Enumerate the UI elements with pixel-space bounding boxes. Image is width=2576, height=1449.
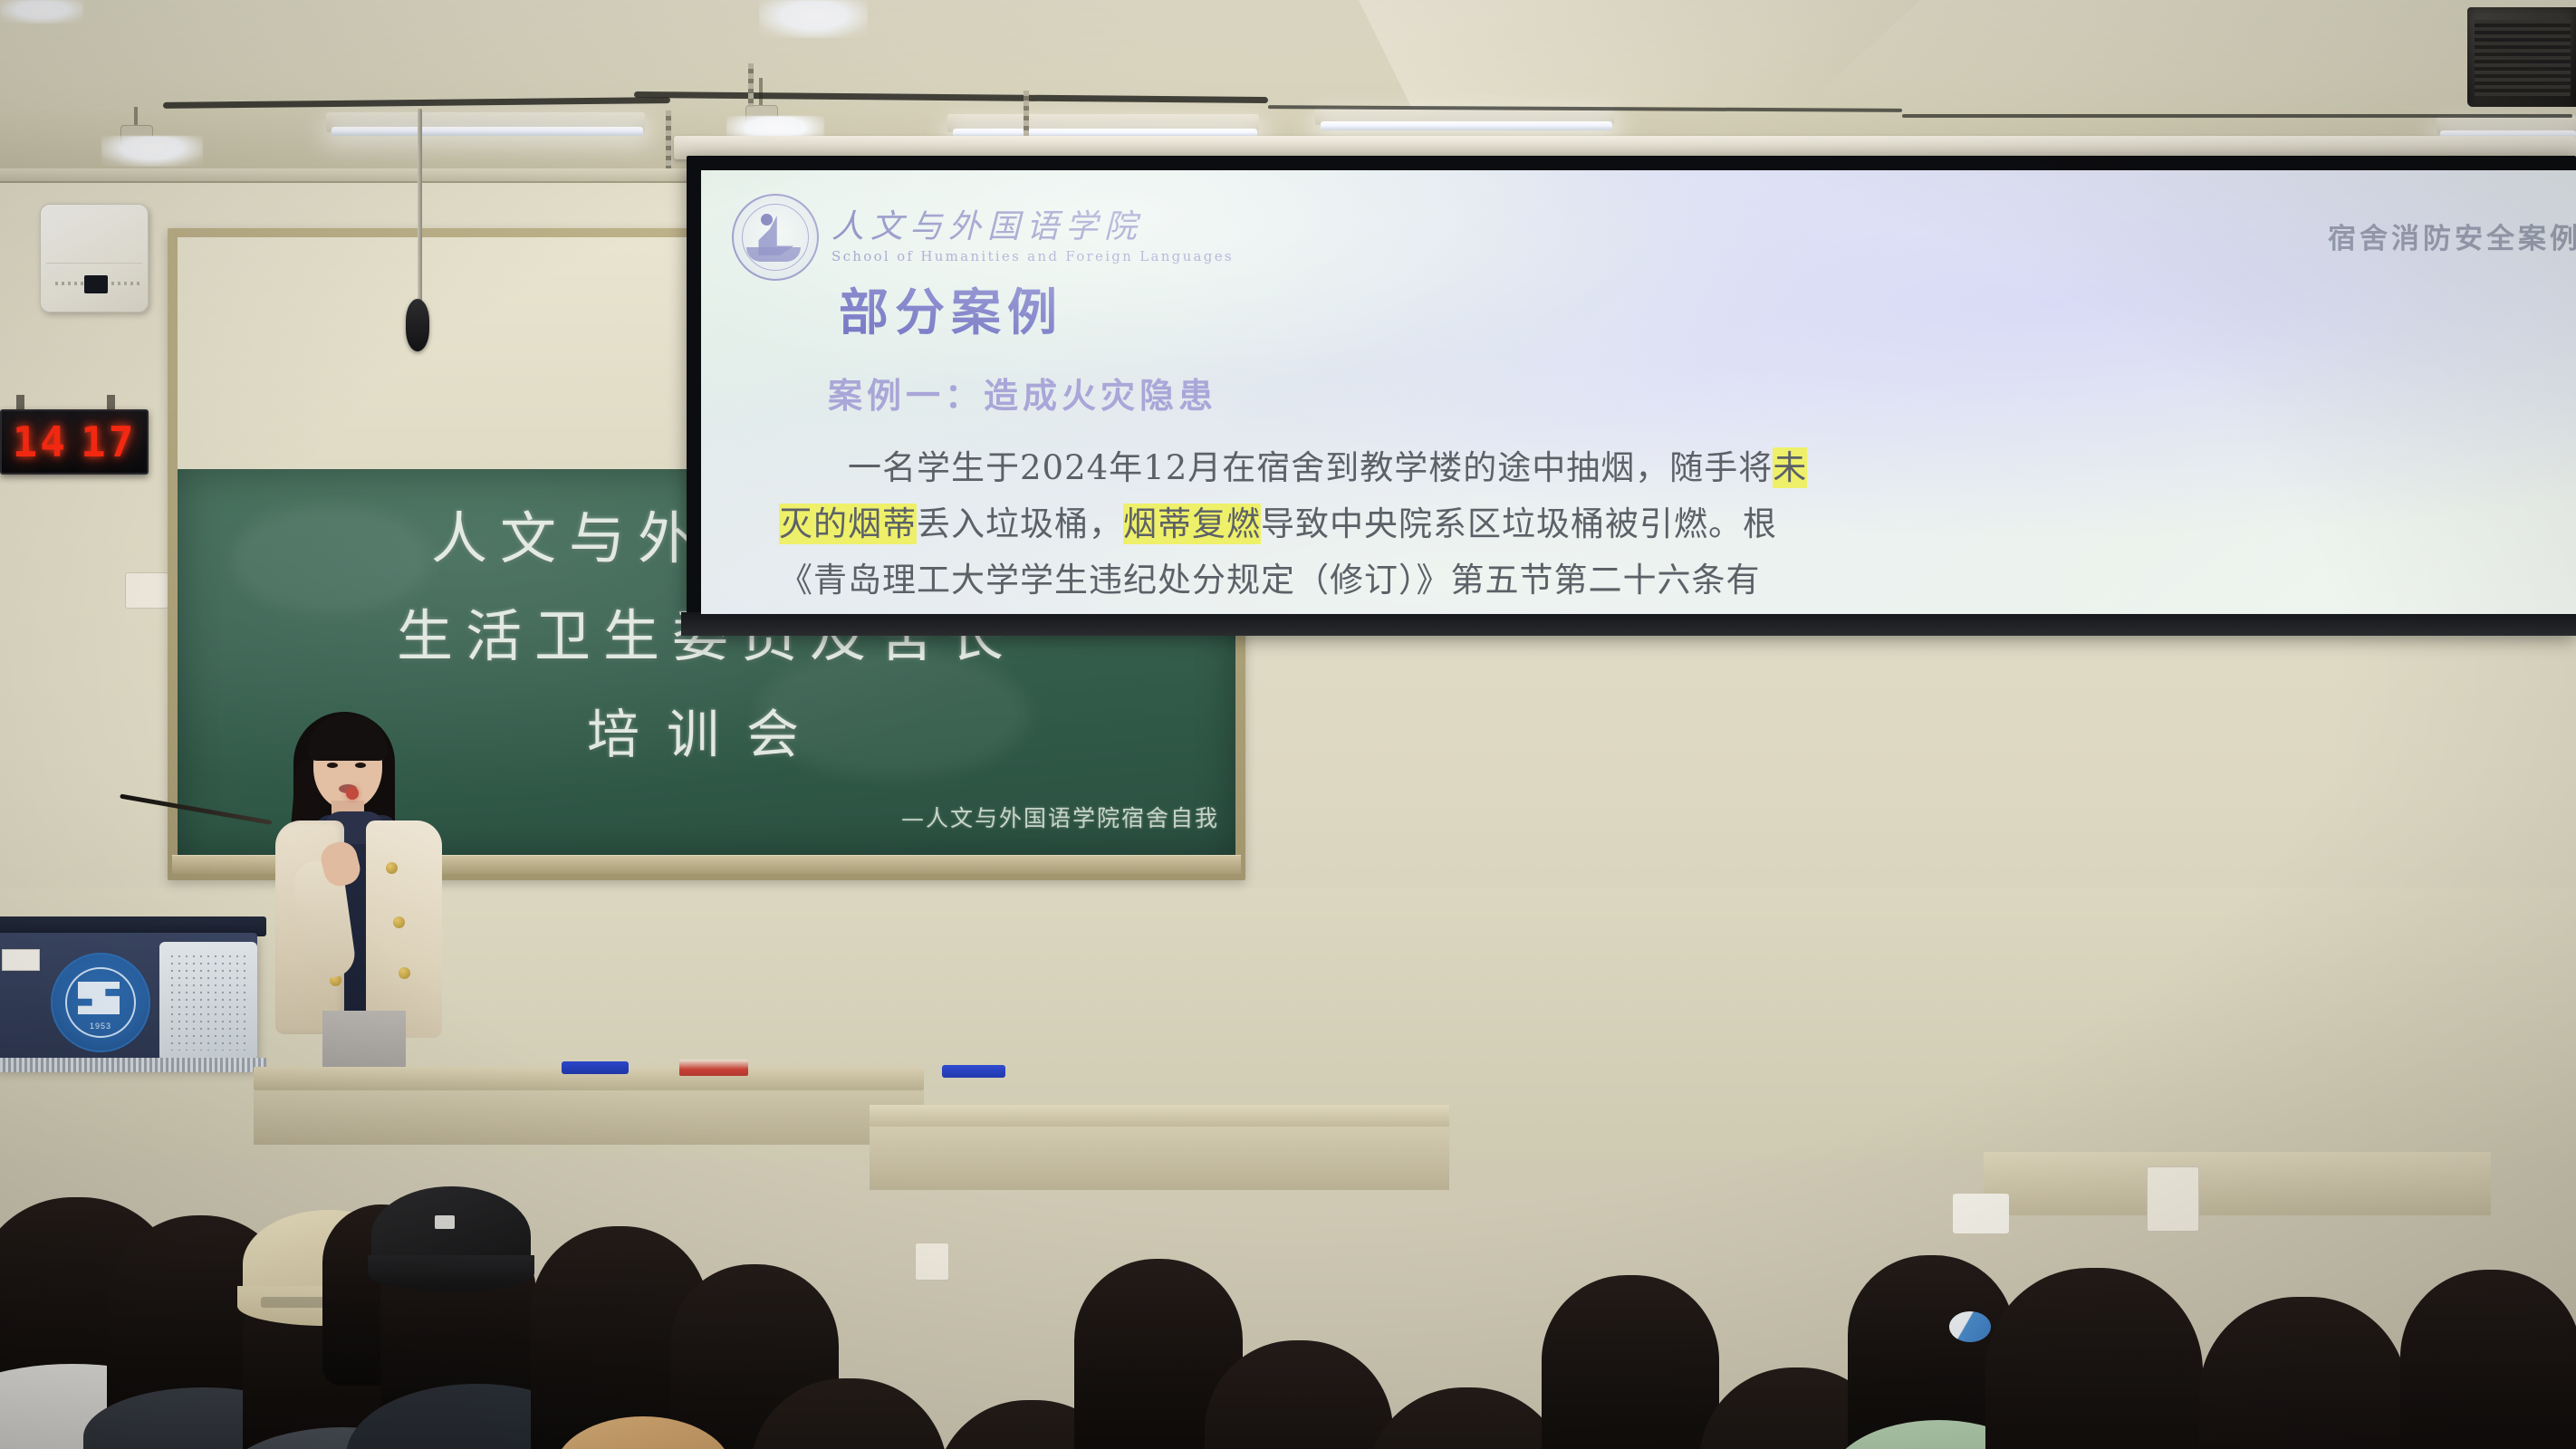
presenter-button-1: [386, 862, 398, 874]
slide-header-right: 宿舍消防安全案例: [2328, 216, 2576, 256]
list-item: [2400, 1270, 2576, 1449]
slide-body-line-l4: 规定，违章用电、用火，造成安全隐患者，视情节给予警告或严重: [779, 609, 2576, 614]
highlighted-text: 烟蒂复燃: [1123, 504, 1261, 544]
presenter-eye-r: [355, 763, 366, 768]
university-logo-glyph: [78, 982, 120, 1014]
unit-display: [84, 275, 108, 293]
podium-asset-label: [2, 949, 40, 971]
body-text: 一名学生于2024年12月在宿舍到教学楼的途中抽烟，随手将: [779, 448, 1773, 487]
unit-seam: [46, 263, 142, 264]
school-seal-icon: [732, 194, 819, 281]
slide-logo-en: School of Humanities and Foreign Languag…: [831, 248, 1234, 264]
projection-screen: 人文与外国语学院 School of Humanities and Foreig…: [701, 170, 2576, 614]
presenter: [272, 706, 498, 1087]
university-logo-year: 1953: [67, 1022, 134, 1031]
presenter-eye-l: [327, 763, 338, 768]
slide-body-line-l2: 灭的烟蒂丢入垃圾桶，烟蒂复燃导致中央院系区垃圾桶被引燃。根: [779, 496, 2576, 552]
hanger-chain-3: [748, 63, 754, 107]
pendant-light-top: [759, 0, 868, 38]
body-text: 《青岛理工大学学生违纪处分规定（修订）》第五节第二十六条有: [779, 561, 1761, 600]
hair-scrunchie: [1949, 1311, 1991, 1342]
slide: 人文与外国语学院 School of Humanities and Foreig…: [701, 170, 2576, 614]
blackboard-signature: —人文与外国语学院宿舍自我: [901, 801, 1219, 833]
slide-logo-cn: 人文与外国语学院: [831, 210, 1234, 245]
slide-body-line-l1: 一名学生于2024年12月在宿舍到教学楼的途中抽烟，随手将未: [779, 440, 2576, 496]
unit-led-row-right: [111, 282, 140, 285]
slide-subtitle: 案例一：造成火灾隐患: [828, 368, 1217, 417]
body-text: 导致中央院系区垃圾桶被引燃。根: [1261, 504, 1777, 543]
presenter-button-3: [399, 967, 410, 979]
list-item: [1542, 1275, 1719, 1449]
air-conditioner-unit: [2467, 7, 2576, 107]
projection-screen-bottom-bar: [681, 612, 2576, 636]
slide-logo-text: 人文与外国语学院 School of Humanities and Foreig…: [831, 210, 1234, 264]
slide-body: 一名学生于2024年12月在宿舍到教学楼的途中抽烟，随手将未灭的烟蒂丢入垃圾桶，…: [779, 440, 2576, 614]
fluorescent-tube-3: [1321, 121, 1612, 130]
cap-brim-2: [368, 1255, 534, 1291]
pendant-rod: [134, 107, 138, 127]
hanging-mic-head-icon: [406, 299, 429, 351]
body-text: 丢入垃圾桶，: [917, 504, 1123, 543]
university-logo-icon: 1953: [51, 953, 150, 1052]
presenter-button-2: [393, 916, 405, 928]
audience: CAMEL: [0, 1041, 2576, 1449]
wall-switch-plate-2[interactable]: [125, 572, 168, 609]
wall-control-unit[interactable]: [40, 204, 149, 312]
seal-dot-glyph: [761, 214, 773, 226]
seal-boat-glyph: [746, 247, 801, 262]
slide-body-line-l3: 《青岛理工大学学生违纪处分规定（修订）》第五节第二十六条有: [779, 552, 2576, 609]
classroom-photo: 14 17 人文与外国语学院 生活卫生委员及舍长 培训会 —人文与外国语学院宿舍…: [0, 0, 2576, 1449]
slide-logo: 人文与外国语学院 School of Humanities and Foreig…: [732, 194, 1234, 281]
unit-led-row-left: [55, 282, 84, 285]
mic-led-icon: [346, 787, 359, 800]
ac-grille-icon: [2475, 20, 2571, 96]
presenter-jacket-right: [366, 820, 442, 1038]
list-item: [2199, 1297, 2408, 1449]
list-item: [1366, 1387, 1569, 1449]
clock-hours: 14: [13, 421, 68, 463]
list-item: [1985, 1268, 2203, 1449]
pendant-light-left: [101, 136, 203, 167]
clock-minutes: 17: [81, 421, 136, 463]
speaker-mesh-icon: [168, 953, 248, 1051]
highlighted-text: 灭的烟蒂: [779, 504, 917, 544]
slide-title: 部分案例: [839, 272, 1063, 344]
ceiling-cable-4: [1902, 114, 2572, 118]
hanging-mic-rod: [418, 109, 422, 319]
fluorescent-tube-1: [332, 127, 643, 136]
pendant-light-corner: [0, 0, 83, 24]
cap-buckle-2: [435, 1215, 455, 1229]
highlighted-text: 未: [1773, 447, 1807, 488]
black-cap: [371, 1186, 531, 1286]
university-logo-inner: 1953: [65, 967, 136, 1038]
digital-wall-clock: 14 17: [0, 409, 149, 475]
